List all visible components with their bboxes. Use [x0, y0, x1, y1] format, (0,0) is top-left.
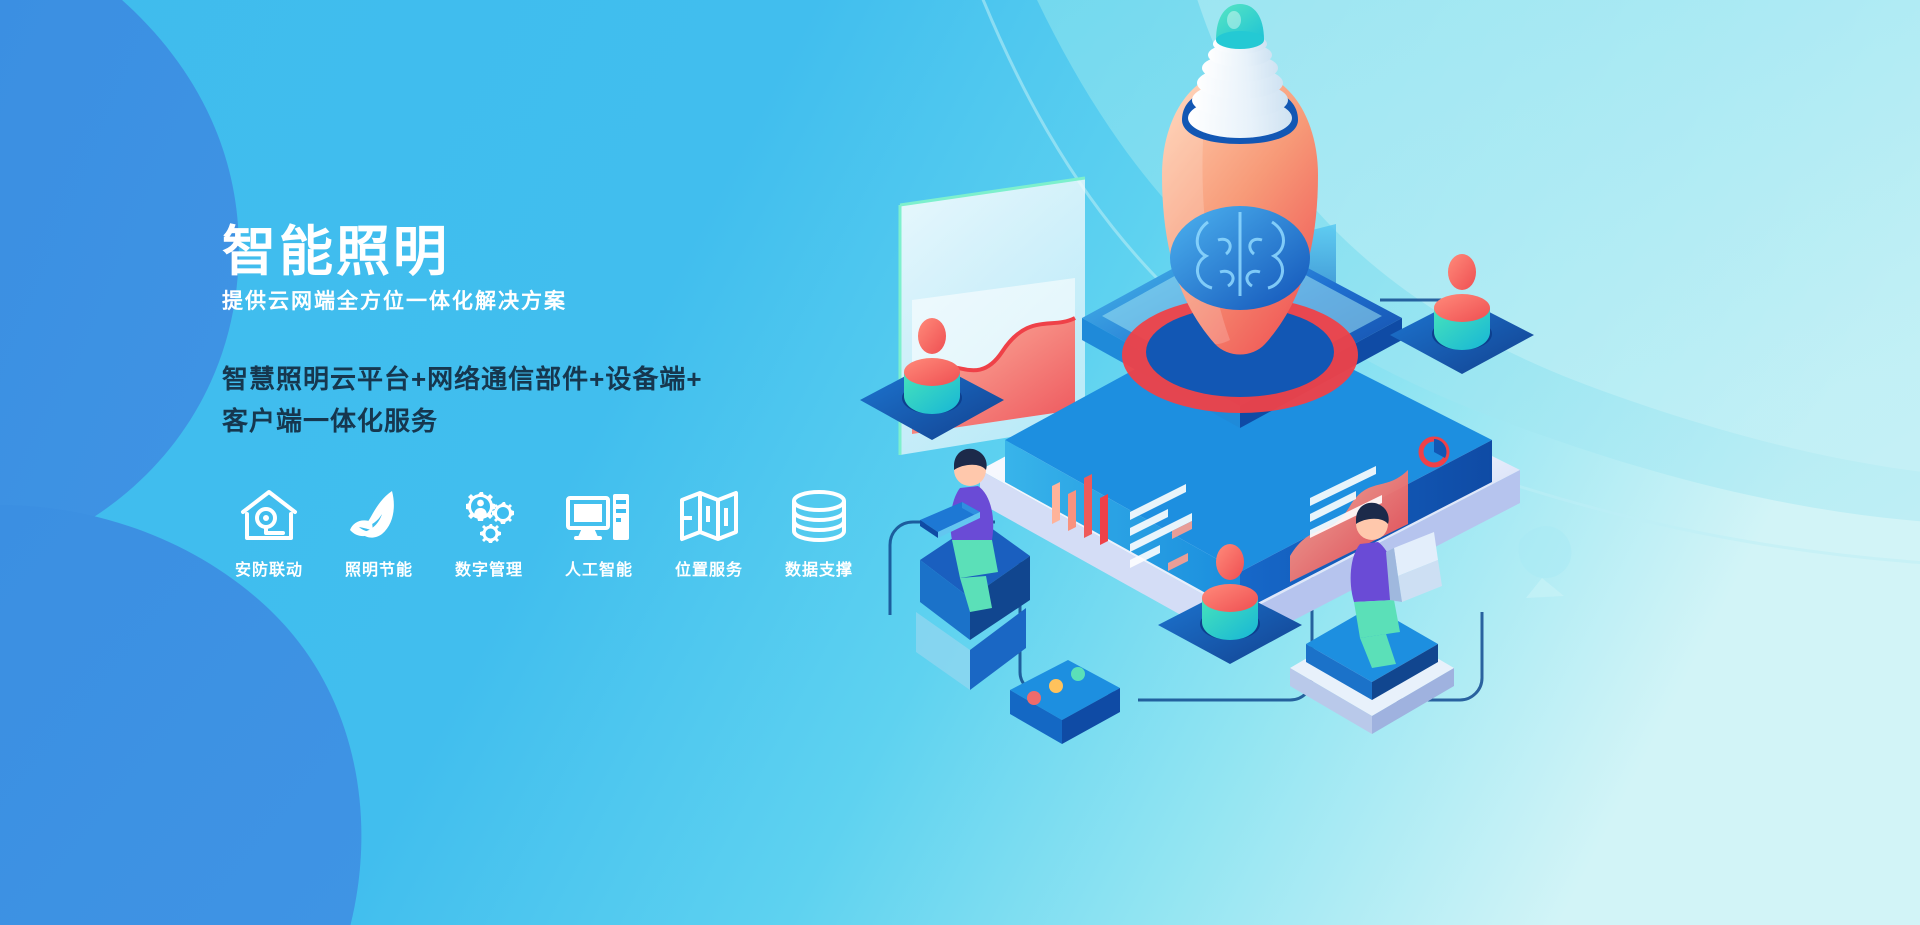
home-security-icon: [238, 482, 300, 544]
feature-item-security[interactable]: 安防联动: [214, 482, 324, 580]
feature-label: 安防联动: [235, 556, 303, 580]
feature-label: 人工智能: [565, 556, 633, 580]
folded-map-icon: [678, 482, 740, 544]
leaf-icon: [348, 482, 410, 544]
description-line-1: 智慧照明云平台+网络通信部件+设备端+: [222, 359, 942, 401]
feature-item-data[interactable]: 数据支撑: [764, 482, 874, 580]
feature-item-ai[interactable]: 人工智能: [544, 482, 654, 580]
feature-list: 安防联动 照明节能: [214, 482, 942, 580]
desktop-computer-icon: [566, 482, 632, 544]
feature-label: 数字管理: [455, 556, 523, 580]
decor-cone: [1518, 526, 1571, 598]
feature-item-location[interactable]: 位置服务: [654, 482, 764, 580]
banner-stage: 智能照明 提供云网端全方位一体化解决方案 智慧照明云平台+网络通信部件+设备端+…: [0, 0, 1920, 925]
gears-person-icon: [456, 482, 522, 544]
hero-illustration: [820, 0, 1920, 925]
feature-label: 位置服务: [675, 556, 743, 580]
isometric-smart-lighting-scene: [820, 0, 1920, 925]
feature-label: 照明节能: [345, 556, 413, 580]
description-line-2: 客户端一体化服务: [222, 401, 942, 443]
text-content: 智能照明 提供云网端全方位一体化解决方案 智慧照明云平台+网络通信部件+设备端+…: [222, 225, 942, 580]
bulb-screw-threads: [1188, 34, 1292, 138]
brain-icon: [1170, 206, 1310, 310]
control-module-block: [1010, 660, 1120, 744]
page-title: 智能照明: [222, 225, 942, 279]
description-block: 智慧照明云平台+网络通信部件+设备端+ 客户端一体化服务: [222, 359, 942, 442]
network-node-top-right: [1390, 254, 1534, 374]
feature-item-energy[interactable]: 照明节能: [324, 482, 434, 580]
feature-item-digital-management[interactable]: 数字管理: [434, 482, 544, 580]
page-subtitle: 提供云网端全方位一体化解决方案: [222, 285, 942, 315]
database-cylinder-icon: [788, 482, 850, 544]
light-bulb-with-brain: [1122, 4, 1358, 413]
feature-label: 数据支撑: [785, 556, 853, 580]
